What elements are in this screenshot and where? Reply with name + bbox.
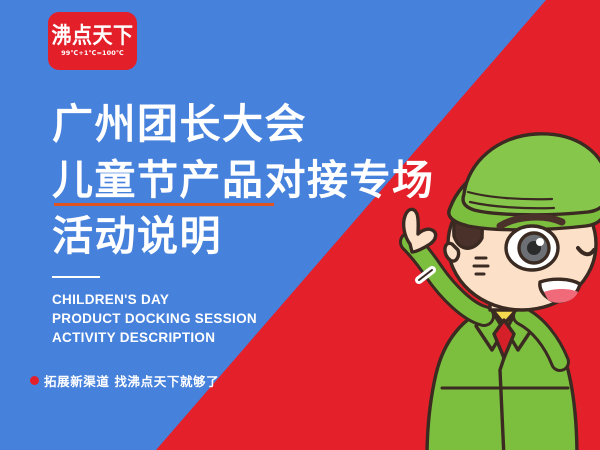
english-subtitle-block: CHILDREN'S DAY PRODUCT DOCKING SESSION A… <box>52 290 257 347</box>
english-line-1: CHILDREN'S DAY <box>52 290 257 309</box>
english-line-2: PRODUCT DOCKING SESSION <box>52 309 257 328</box>
headline-line-2: 儿童节产品对接专场 <box>52 152 435 208</box>
brand-formula: 99℃+1℃=100℃ <box>61 50 124 57</box>
brand-logo[interactable]: 沸点天下 99℃+1℃=100℃ <box>48 12 137 70</box>
bullet-dot-icon <box>30 376 39 385</box>
headline-line-1: 广州团长大会 <box>52 96 435 152</box>
divider-rule <box>52 276 100 278</box>
poster-canvas: 沸点天下 99℃+1℃=100℃ 广州团长大会 儿童节产品对接专场 活动说明 C… <box>0 0 600 450</box>
tagline-text: 拓展新渠道 找沸点天下就够了 <box>44 371 219 390</box>
tagline: 拓展新渠道 找沸点天下就够了 <box>30 371 219 390</box>
headline-block: 广州团长大会 儿童节产品对接专场 活动说明 <box>52 96 435 264</box>
english-line-3: ACTIVITY DESCRIPTION <box>52 328 257 347</box>
headline-line-3: 活动说明 <box>52 208 435 264</box>
brand-wordmark: 沸点天下 <box>52 24 134 46</box>
